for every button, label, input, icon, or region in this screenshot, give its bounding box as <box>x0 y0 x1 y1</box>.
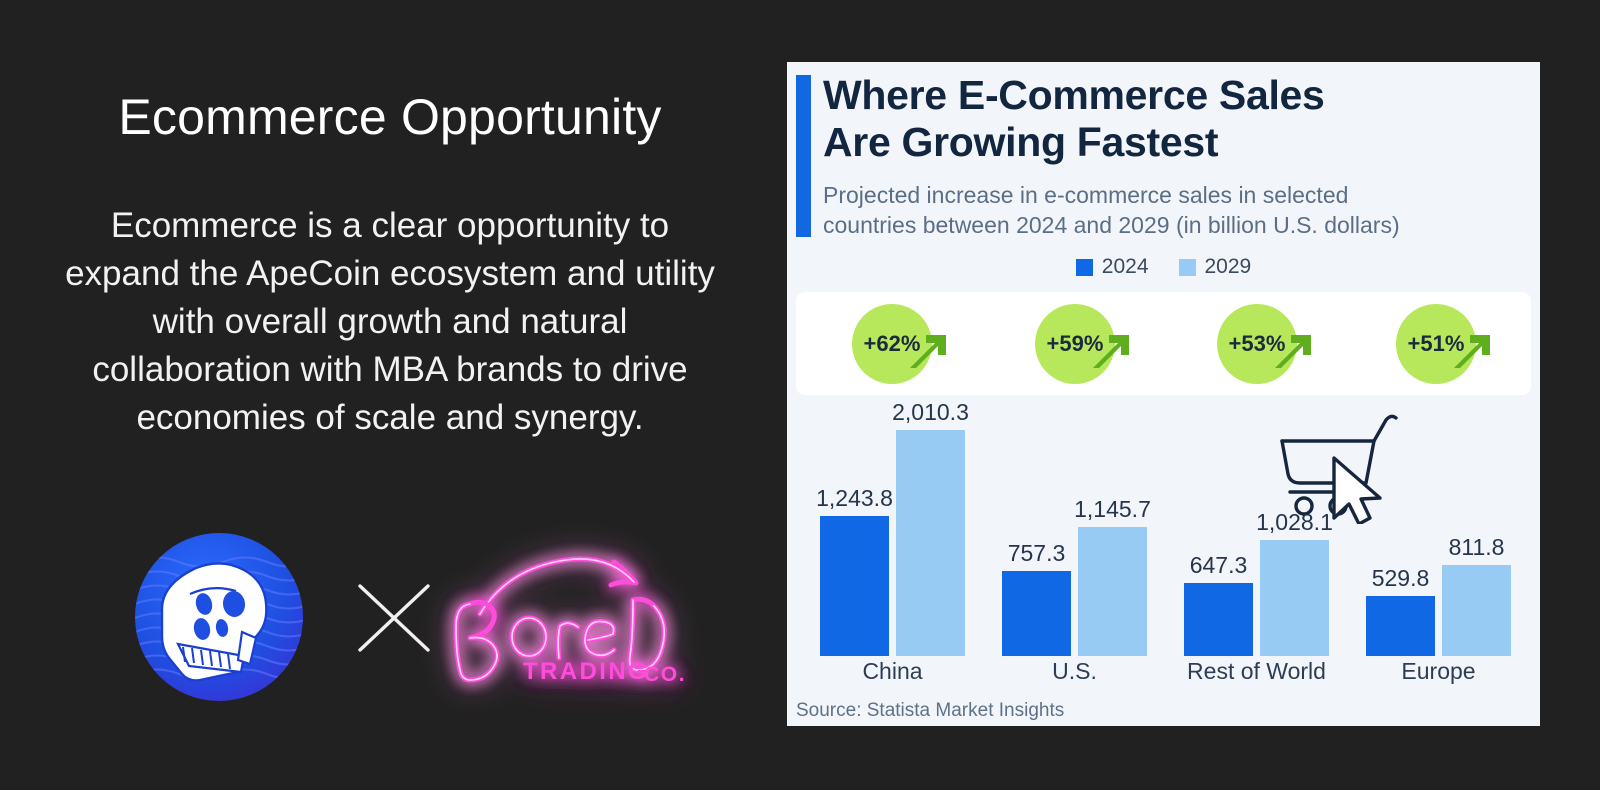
logo-separator-x-icon <box>355 582 433 654</box>
chart-legend: 2024 2029 <box>787 255 1540 279</box>
growth-badge-europe: +51% <box>1396 304 1512 384</box>
category-label-china: China <box>820 658 965 685</box>
bar-rect-2024[interactable] <box>1184 583 1253 656</box>
slide-canvas: Ecommerce Opportunity Ecommerce is a cle… <box>0 0 1600 790</box>
statista-chart-panel: Where E-Commerce Sales Are Growing Faste… <box>787 62 1540 726</box>
svg-text:TRADING: TRADING <box>523 658 649 685</box>
bar-group-china: 1,243.8 2,010.3 China <box>820 402 965 656</box>
bar-rect-2029[interactable] <box>1260 540 1329 656</box>
chart-subtitle: Projected increase in e-commerce sales i… <box>823 180 1529 240</box>
bar-column-2024[interactable]: 529.8 <box>1366 596 1435 656</box>
bar-value-2024: 647.3 <box>1190 552 1248 583</box>
bar-group-rest-of-world: 647.3 1,028.1 Rest of World <box>1184 402 1329 656</box>
bar-rect-2029[interactable] <box>1442 565 1511 656</box>
bar-column-2029[interactable]: 811.8 <box>1442 565 1511 656</box>
chart-title-line-1: Where E-Commerce Sales <box>823 72 1523 119</box>
category-label-europe: Europe <box>1366 658 1511 685</box>
bar-group-europe: 529.8 811.8 Europe <box>1366 402 1511 656</box>
bar-value-2029: 1,028.1 <box>1256 509 1333 540</box>
chart-accent-bar <box>796 75 811 237</box>
logo-row: TRADING CO. <box>110 520 710 715</box>
growth-badge-band: +62% +59% <box>796 292 1531 395</box>
bar-rect-2029[interactable] <box>1078 527 1147 656</box>
legend-swatch-2024 <box>1076 259 1093 276</box>
chart-title-line-2: Are Growing Fastest <box>823 119 1523 166</box>
bar-value-2029: 811.8 <box>1449 534 1505 565</box>
legend-entry-2029: 2029 <box>1179 255 1252 279</box>
left-content-panel: Ecommerce Opportunity Ecommerce is a cle… <box>0 0 780 790</box>
bar-value-2029: 2,010.3 <box>892 399 969 430</box>
bar-group-us: 757.3 1,145.7 U.S. <box>1002 402 1147 656</box>
growth-arrow-icon <box>1088 328 1134 374</box>
bar-column-2024[interactable]: 1,243.8 <box>820 516 889 656</box>
bar-rect-2024[interactable] <box>820 516 889 656</box>
growth-badge-china: +62% <box>852 304 968 384</box>
apecoin-logo <box>130 528 308 706</box>
bar-rect-2024[interactable] <box>1002 571 1071 656</box>
bar-pair: 529.8 811.8 <box>1366 402 1511 656</box>
body-paragraph: Ecommerce is a clear opportunity to expa… <box>60 202 720 442</box>
bar-rect-2029[interactable] <box>896 430 965 656</box>
svg-text:CO.: CO. <box>644 663 686 686</box>
category-label-rest-of-world: Rest of World <box>1184 658 1329 685</box>
legend-label-2024: 2024 <box>1102 255 1149 279</box>
growth-arrow-icon <box>1449 328 1495 374</box>
bar-column-2029[interactable]: 1,145.7 <box>1078 527 1147 656</box>
chart-title: Where E-Commerce Sales Are Growing Faste… <box>823 72 1523 166</box>
growth-arrow-icon <box>905 328 951 374</box>
bar-value-2024: 757.3 <box>1008 540 1066 571</box>
bar-column-2024[interactable]: 757.3 <box>1002 571 1071 656</box>
bar-column-2029[interactable]: 1,028.1 <box>1260 540 1329 656</box>
bar-value-2024: 1,243.8 <box>816 485 893 516</box>
legend-entry-2024: 2024 <box>1076 255 1149 279</box>
bar-value-2029: 1,145.7 <box>1074 496 1151 527</box>
chart-subtitle-line-1: Projected increase in e-commerce sales i… <box>823 180 1529 210</box>
bar-rect-2024[interactable] <box>1366 596 1435 656</box>
legend-swatch-2029 <box>1179 259 1196 276</box>
bar-pair: 647.3 1,028.1 <box>1184 402 1329 656</box>
bored-trading-co-logo: TRADING CO. <box>428 542 698 692</box>
category-label-us: U.S. <box>1002 658 1147 685</box>
growth-badge-rest-of-world: +53% <box>1217 304 1333 384</box>
chart-plot-area: 1,243.8 2,010.3 China 757.3 <box>796 402 1531 702</box>
chart-subtitle-line-2: countries between 2024 and 2029 (in bill… <box>823 210 1529 240</box>
bar-value-2024: 529.8 <box>1372 565 1430 596</box>
legend-label-2029: 2029 <box>1205 255 1252 279</box>
growth-arrow-icon <box>1270 328 1316 374</box>
bar-column-2029[interactable]: 2,010.3 <box>896 430 965 656</box>
bar-pair: 1,243.8 2,010.3 <box>820 402 965 656</box>
growth-badge-us: +59% <box>1035 304 1151 384</box>
bar-column-2024[interactable]: 647.3 <box>1184 583 1253 656</box>
bar-pair: 757.3 1,145.7 <box>1002 402 1147 656</box>
page-title: Ecommerce Opportunity <box>0 88 780 146</box>
chart-source-note: Source: Statista Market Insights <box>796 700 1064 722</box>
